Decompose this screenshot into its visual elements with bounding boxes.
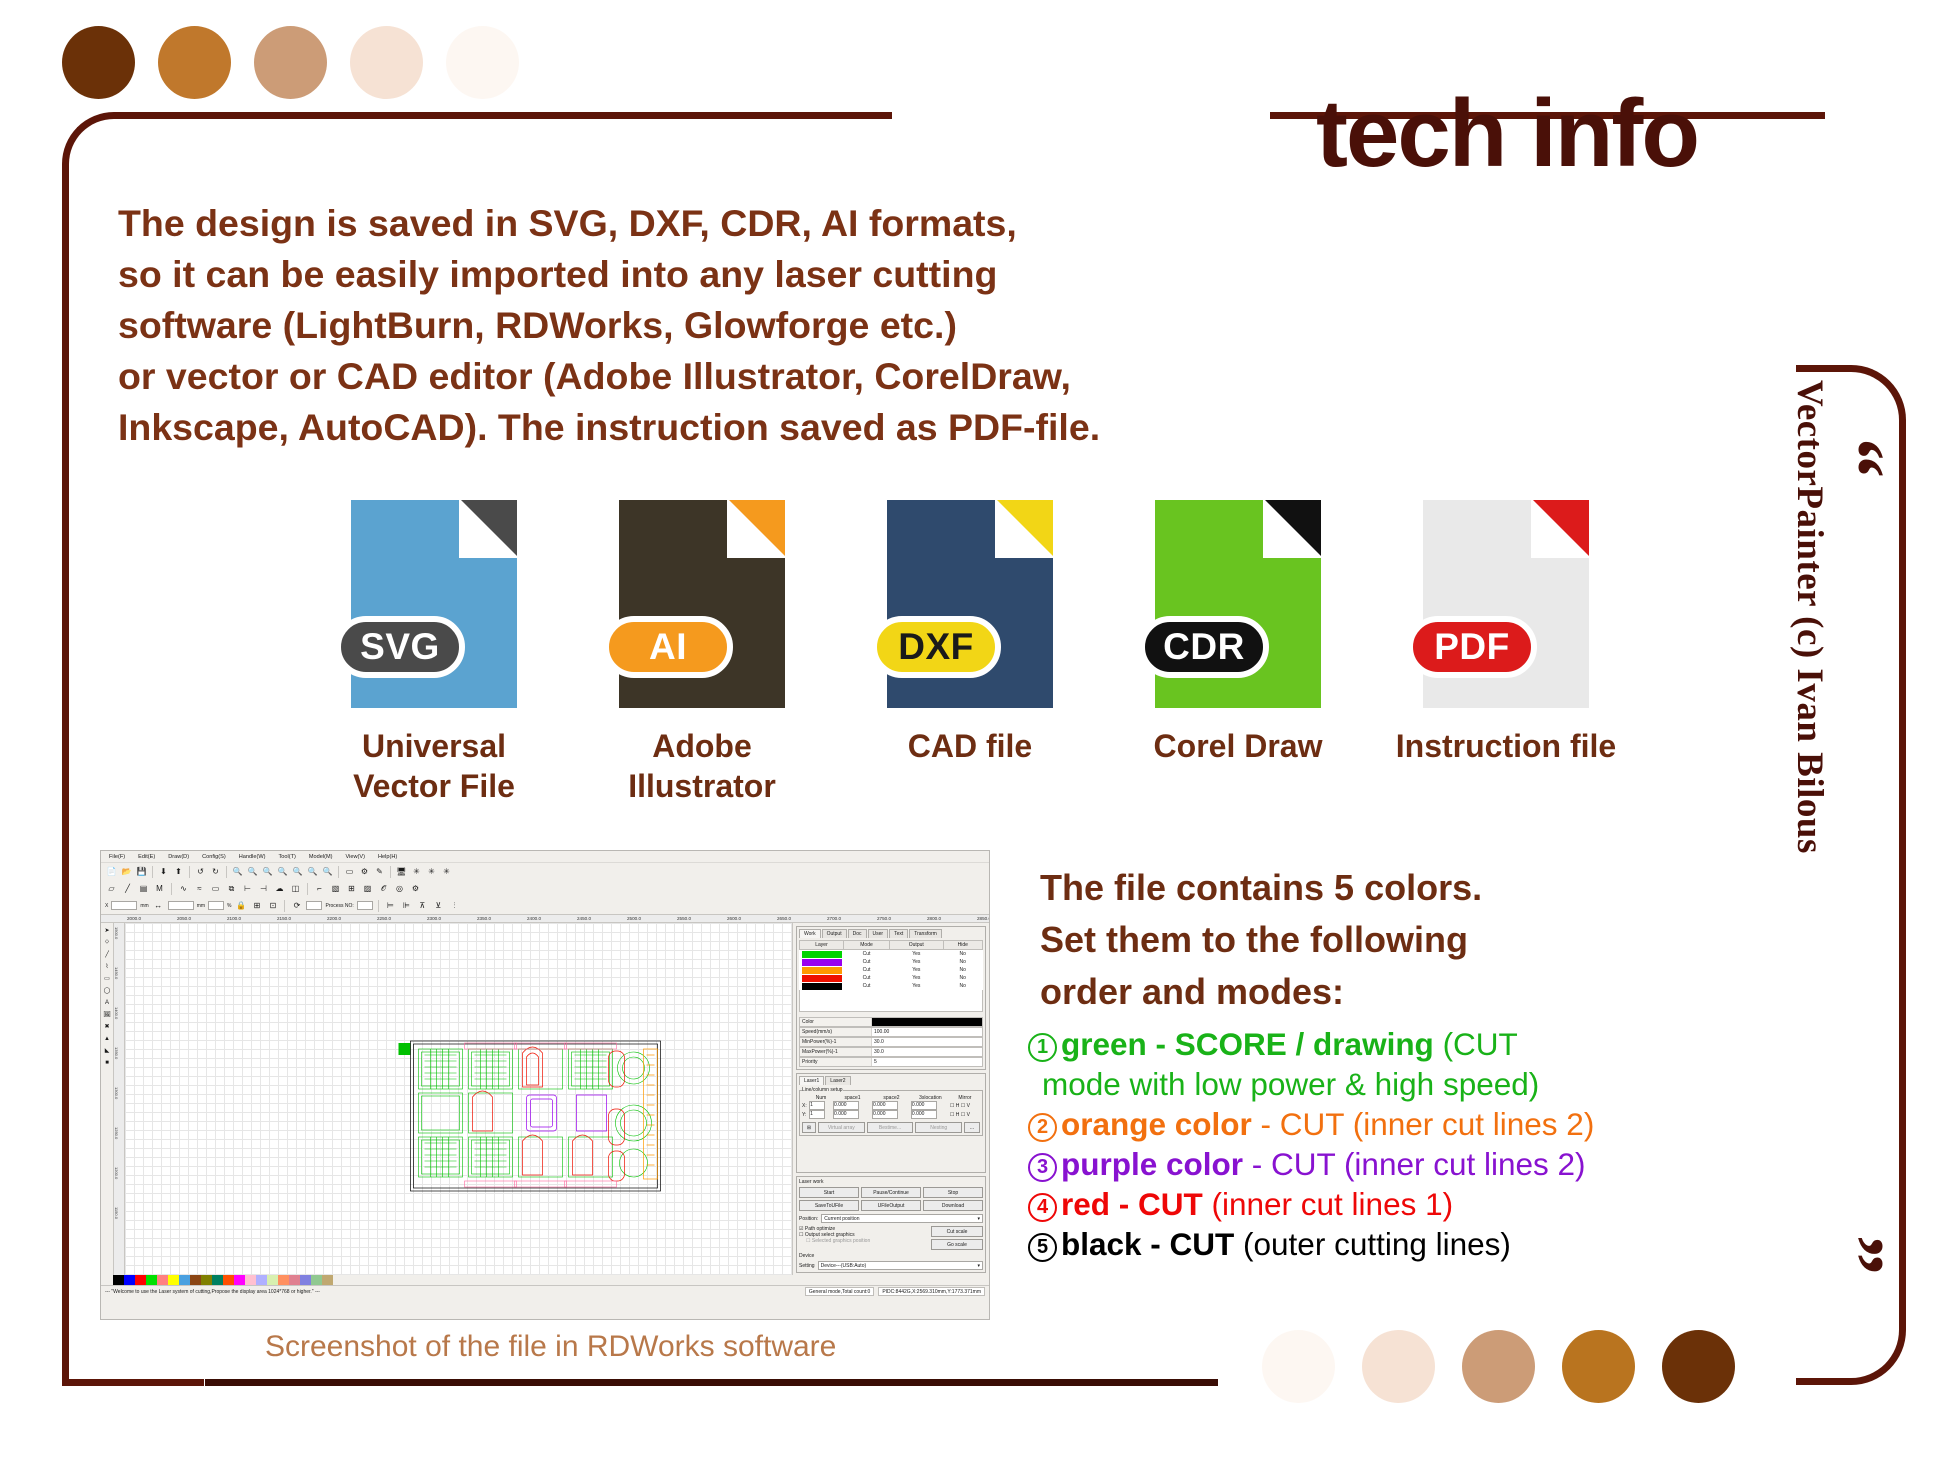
anchor-icon[interactable]: ⊡ [266, 899, 279, 912]
linecol-space2[interactable]: 0.000 [872, 1110, 911, 1119]
layer-color-swatch[interactable] [800, 966, 844, 974]
align-v-icon[interactable]: ⊣ [257, 882, 270, 895]
palette-swatch-17[interactable] [300, 1275, 311, 1285]
linecol-space2[interactable]: 0.000 [872, 1101, 911, 1110]
align-h-icon[interactable]: ⊢ [241, 882, 254, 895]
palette-swatch-3[interactable] [146, 1275, 157, 1285]
laser-work-btn-ufileoutput[interactable]: UFileOutput [861, 1200, 921, 1211]
select-icon[interactable]: ▱ [105, 882, 118, 895]
canvas-artwork [125, 923, 792, 1275]
h-ruler-tick-8: 2400.0 [527, 916, 577, 921]
h-ruler-tick-6: 2300.0 [427, 916, 477, 921]
laser-tab-1[interactable]: Laser1 [799, 1076, 824, 1085]
laser-work-btn-stop[interactable]: Stop [923, 1187, 983, 1198]
palette-swatch-10[interactable] [223, 1275, 234, 1285]
layer-col-mode: Mode [844, 941, 890, 950]
align-left-icon[interactable]: ⊨ [384, 899, 397, 912]
layer-color-swatch[interactable] [800, 974, 844, 982]
pdf-file-icon-cell: PDFInstruction file [1372, 500, 1640, 806]
offset-icon[interactable]: ▧ [329, 882, 342, 895]
menu-item-2[interactable]: Draw(D) [168, 854, 189, 860]
spline-icon[interactable]: ≈ [193, 882, 206, 895]
layer-col-hide: Hide [943, 941, 982, 950]
rdworks-color-palette[interactable] [101, 1275, 989, 1285]
order-number-2: 2 [1028, 1113, 1057, 1142]
v-ruler-tick-6: 1200.0 [114, 1163, 119, 1203]
new-icon[interactable]: 📄 [105, 865, 118, 878]
palette-swatch-0[interactable] [113, 1275, 124, 1285]
rdworks-coordinate-bar[interactable]: X mm ↔ mm % 🔒 ⊞ ⊡ ⟳ Process NO: ⊨ ⊫ ⊼ ⊻ … [101, 897, 989, 914]
svg-file-icon: SVG [351, 500, 517, 708]
unit-w: mm [197, 903, 205, 909]
h-ruler-tick-4: 2200.0 [327, 916, 377, 921]
layer-output: Yes [890, 958, 943, 966]
unit-x: mm [140, 903, 148, 909]
intro-line-3: software (LightBurn, RDWorks, Glowforge … [118, 300, 1278, 351]
laser-work-btn-savetoufile[interactable]: SaveToUFile [799, 1200, 859, 1211]
node-add-icon[interactable]: ✳ [425, 865, 438, 878]
svg-file-icon-cell: SVGUniversalVector File [300, 500, 568, 806]
intro-line-4: or vector or CAD editor (Adobe Illustrat… [118, 351, 1278, 402]
v-ruler-tick-4: 1300.0 [114, 1083, 119, 1123]
array-preview-icon[interactable]: ⊞ [802, 1122, 816, 1133]
device-select[interactable]: Device---(USB:Auto) ▾ [818, 1261, 983, 1270]
colors-heading-line-3: order and modes: [1040, 966, 1680, 1018]
settings-icon[interactable]: ⚙ [358, 865, 371, 878]
colors-heading: The file contains 5 colors. Set them to … [1040, 862, 1680, 1018]
menu-item-7[interactable]: View(V) [346, 854, 365, 860]
curve-icon[interactable]: ∿ [177, 882, 190, 895]
center-icon[interactable]: ⊞ [250, 899, 263, 912]
device-title: Device [799, 1253, 983, 1259]
laser-tab-panel[interactable]: Laser1Laser2 Line/column setup Numspace1… [796, 1073, 986, 1173]
colors-order-list: 1green - SCORE / drawing (CUTmode with l… [1028, 1024, 1708, 1264]
layer-mode: Cut [844, 950, 890, 959]
palette-swatch-7[interactable] [190, 1275, 201, 1285]
color-name-5: black - CUT [1061, 1226, 1234, 1262]
rect-tool-icon[interactable]: ▭ [103, 974, 112, 983]
position-select[interactable]: Current position ▾ [821, 1214, 983, 1223]
panel-tab-output[interactable]: Output [822, 929, 847, 938]
layer-row[interactable]: CutYesNo [800, 974, 983, 982]
align-bottom-icon[interactable]: ⊻ [432, 899, 445, 912]
corner-icon[interactable]: ⌐ [313, 882, 326, 895]
fill-tool-icon[interactable]: ■ [103, 1058, 112, 1067]
color-mode-3: - CUT (inner cut lines 2) [1243, 1146, 1586, 1182]
text-tool-icon[interactable]: A [103, 998, 112, 1007]
node-edit-icon[interactable]: ✳ [410, 865, 423, 878]
x-field[interactable] [111, 901, 137, 910]
palette-swatch-4[interactable] [157, 1275, 168, 1285]
layer-mode: Cut [844, 958, 890, 966]
layer-row[interactable]: CutYesNo [800, 950, 983, 959]
ai-file-icon: AI [619, 500, 785, 708]
palette-swatch-14[interactable] [267, 1275, 278, 1285]
frame-left-bottom-rule [62, 1379, 204, 1386]
open-icon[interactable]: 📂 [120, 865, 133, 878]
rdworks-toolbar-draw[interactable]: ▱ ╱ ▤ M ∿ ≈ ▭ ⧉ ⊢ ⊣ ☁ ◫ ⌐ ▧ ⊞ ▨ 𝒪 ◎ ⚙ [101, 880, 989, 897]
layer-hide: No [943, 966, 982, 974]
laser-work-panel[interactable]: Laser work StartPause/ContinueStop SaveT… [796, 1176, 986, 1273]
h-ruler-tick-10: 2500.0 [627, 916, 677, 921]
pdf-file-icon-badge: PDF [1407, 616, 1537, 678]
laser-tab-strip[interactable]: Laser1Laser2 [799, 1076, 983, 1085]
h-ruler-tick-1: 2050.0 [177, 916, 227, 921]
chevron-down-icon[interactable]: ▾ [977, 1216, 980, 1222]
color-mode-4: (inner cut lines 1) [1203, 1186, 1453, 1222]
linecol-button-3[interactable]: ... [964, 1122, 980, 1133]
v-ruler-tick-5: 1250.0 [114, 1123, 119, 1163]
color-order-item-4: 4red - CUT (inner cut lines 1) [1028, 1184, 1708, 1224]
v-ruler-tick-3: 1350.0 [114, 1043, 119, 1083]
scale-x-field[interactable] [208, 901, 224, 910]
linecol-axis: Y: [802, 1110, 809, 1119]
linecol-button-1[interactable]: Bestime... [867, 1122, 914, 1133]
color-name-4: red - CUT [1061, 1186, 1203, 1222]
pdf-file-icon-label: Instruction file [1396, 726, 1616, 766]
colors-heading-line-1: The file contains 5 colors. [1040, 862, 1680, 914]
dxf-file-icon-cell: DXFCAD file [836, 500, 1104, 806]
linecol-row[interactable]: X:10.0000.0000.000☐ H ☐ V [802, 1101, 980, 1110]
v-ruler-tick-7: 1150.0 [114, 1203, 119, 1243]
ai-file-icon-cell: AIAdobeIllustrator [568, 500, 836, 806]
palette-swatch-16[interactable] [289, 1275, 300, 1285]
menu-item-8[interactable]: Help(H) [378, 854, 397, 860]
line-icon[interactable]: ╱ [121, 882, 134, 895]
zoom-page-icon[interactable]: 🔍 [306, 865, 319, 878]
order-number-3: 3 [1028, 1153, 1057, 1182]
param-value[interactable]: 30.0 [872, 1048, 982, 1056]
frame-bottom-rule [205, 1379, 1218, 1386]
process-no-field[interactable] [357, 901, 373, 910]
group-tool-icon[interactable]: ▲ [103, 1034, 112, 1043]
palette-swatch-15[interactable] [278, 1275, 289, 1285]
layer-output: Yes [890, 950, 943, 959]
monitor-icon[interactable]: 🖥 [395, 865, 408, 878]
linecol-button-0[interactable]: Virtual array [818, 1122, 865, 1133]
save-icon[interactable]: 💾 [135, 865, 148, 878]
laser-work-title: Laser work [799, 1179, 983, 1185]
linecol-axis: X: [802, 1101, 809, 1110]
menu-item-3[interactable]: Config(S) [202, 854, 226, 860]
laser-work-btn-start[interactable]: Start [799, 1187, 859, 1198]
h-ruler-tick-5: 2250.0 [377, 916, 427, 921]
go-scale-button[interactable]: Go scale [931, 1239, 983, 1250]
cloud-icon[interactable]: ☁ [273, 882, 286, 895]
dxf-file-icon: DXF [887, 500, 1053, 708]
menu-item-0[interactable]: File(F) [109, 854, 125, 860]
width-field[interactable] [168, 901, 194, 910]
panel-tab-doc[interactable]: Doc [848, 929, 867, 938]
param-value[interactable]: 30.0 [872, 1038, 982, 1046]
rdworks-toolbar-main[interactable]: 📄 📂 💾 ⬇ ⬆ ↺ ↻ 🔍 🔍 🔍 🔍 🔍 🔍 🔍 ▭ ⚙ ✎ 🖥 ✳ ✳ [101, 862, 989, 880]
menu-item-1[interactable]: Edit(E) [138, 854, 155, 860]
panel-tab-user[interactable]: User [868, 929, 889, 938]
panel-tab-strip[interactable]: WorkOutputDocUserTextTransform [799, 929, 983, 938]
color-order-item-1-cont: mode with low power & high speed) [1028, 1064, 1708, 1104]
undo-icon[interactable]: ↺ [194, 865, 207, 878]
intro-line-5: Inkscape, AutoCAD). The instruction save… [118, 402, 1278, 453]
bottom-swatch-row [1262, 1330, 1735, 1403]
rotate-icon[interactable]: ⟳ [290, 899, 303, 912]
angle-field[interactable] [306, 901, 322, 910]
ellipse-tool-icon[interactable]: ◯ [103, 986, 112, 995]
h-ruler-tick-14: 2700.0 [827, 916, 877, 921]
polyline-icon[interactable]: ▤ [137, 882, 150, 895]
layer-parameters[interactable]: ColorSpeed(mm/s)100.00MinPower(%)-130.0M… [799, 1017, 983, 1067]
h-ruler-tick-16: 2800.0 [927, 916, 977, 921]
order-number-5: 5 [1028, 1233, 1057, 1262]
delete-tool-icon[interactable]: ✖ [103, 1022, 112, 1031]
layer-output: Yes [890, 982, 943, 990]
param-row[interactable]: MaxPower(%)-130.0 [799, 1047, 983, 1057]
gear2-icon[interactable]: ⚙ [409, 882, 422, 895]
linecol-mirror[interactable]: ☐ H ☐ V [950, 1101, 980, 1110]
layer-output: Yes [890, 974, 943, 982]
top-swatch-row [62, 26, 519, 99]
v-ruler-tick-1: 1450.0 [114, 963, 119, 1003]
layer-col-output: Output [890, 941, 943, 950]
position-value: Current position [824, 1216, 859, 1222]
linecol-title: Line/column setup [802, 1087, 843, 1093]
work-panel[interactable]: WorkOutputDocUserTextTransform LayerMode… [796, 926, 986, 1070]
process-no-label: Process NO: [325, 903, 353, 909]
cdr-file-icon-cell: CDRCorel Draw [1104, 500, 1372, 806]
layer-mode: Cut [844, 982, 890, 990]
h-ruler-tick-2: 2100.0 [227, 916, 277, 921]
credit-text: VectorPainter (c) Ivan Bilous [1788, 380, 1831, 1060]
zoom-out-icon[interactable]: 🔍 [246, 865, 259, 878]
redo-icon[interactable]: ↻ [209, 865, 222, 878]
palette-swatch-1[interactable] [124, 1275, 135, 1285]
export-icon[interactable]: ⬆ [172, 865, 185, 878]
linecol-space1[interactable]: 0.000 [833, 1110, 872, 1119]
laser-work-buttons-row2[interactable]: SaveToUFileUFileOutputDownload [799, 1200, 983, 1211]
linecol-space1[interactable]: 0.000 [833, 1101, 872, 1110]
polyline-tool-icon[interactable]: ⌇ [103, 962, 112, 971]
node-tool-icon[interactable]: ⬦ [103, 938, 112, 947]
laser-tab-2[interactable]: Laser2 [825, 1076, 850, 1085]
polygon-icon[interactable]: ⧉ [225, 882, 238, 895]
layer-row[interactable]: CutYesNo [800, 982, 983, 990]
x-label: X [105, 903, 108, 909]
swatch-brown [158, 26, 231, 99]
param-value[interactable] [872, 1018, 982, 1026]
param-key: MaxPower(%)-1 [800, 1048, 872, 1056]
quote-close-icon: ” [1815, 1235, 1895, 1275]
cut-scale-button[interactable]: Cut scale [931, 1226, 983, 1237]
layer-color-swatch[interactable] [800, 982, 844, 990]
color-mode-2: - CUT (inner cut lines 2) [1252, 1106, 1595, 1142]
zoom-all-icon[interactable]: 🔍 [291, 865, 304, 878]
palette-swatch-9[interactable] [212, 1275, 223, 1285]
layer-color-swatch[interactable] [800, 950, 844, 959]
color-name-1: green - SCORE / drawing [1061, 1026, 1434, 1062]
h-ruler-tick-12: 2600.0 [727, 916, 777, 921]
rdworks-status-bar: --- "Welcome to use the Laser system of … [101, 1285, 989, 1297]
align-right-icon[interactable]: ⊫ [400, 899, 413, 912]
color-order-item-5: 5black - CUT (outer cutting lines) [1028, 1224, 1708, 1264]
h-ruler-tick-3: 2150.0 [277, 916, 327, 921]
pct-x: % [227, 903, 231, 909]
ungroup-tool-icon[interactable]: ◣ [103, 1046, 112, 1055]
pdf-file-icon: PDF [1423, 500, 1589, 708]
palette-swatch-5[interactable] [168, 1275, 179, 1285]
swatch-tan [1462, 1330, 1535, 1403]
v-ruler-tick-0: 1500.0 [114, 923, 119, 963]
laser-work-btn-pause-continue[interactable]: Pause/Continue [861, 1187, 921, 1198]
param-row[interactable]: Color [799, 1017, 983, 1027]
svg-file-icon-badge: SVG [335, 616, 465, 678]
linecol-mirror[interactable]: ☐ H ☐ V [950, 1110, 980, 1119]
text-icon[interactable]: M [153, 882, 166, 895]
linecol-location[interactable]: 0.000 [911, 1101, 950, 1110]
palette-swatch-8[interactable] [201, 1275, 212, 1285]
swatch-light-peach [1362, 1330, 1435, 1403]
color-mode-1: (CUT [1434, 1026, 1518, 1062]
palette-swatch-19[interactable] [322, 1275, 333, 1285]
zoom-fit-icon[interactable]: 🔍 [261, 865, 274, 878]
selected-graphics-check: ☐ Selected graphics position [799, 1238, 870, 1244]
setting-label: Setting [799, 1263, 815, 1269]
color-name-3: purple color [1061, 1146, 1243, 1182]
menu-item-5[interactable]: Tool(T) [278, 854, 295, 860]
linecol-table[interactable]: Numspace1space23slocationMirror X:10.000… [802, 1095, 980, 1119]
screenshot-caption: Screenshot of the file in RDWorks softwa… [265, 1330, 836, 1364]
cdr-file-icon: CDR [1155, 500, 1321, 708]
laser-work-btn-download[interactable]: Download [923, 1200, 983, 1211]
menu-item-4[interactable]: Handle(W) [239, 854, 266, 860]
distribute-icon[interactable]: ⫶ [448, 899, 461, 912]
linecol-button-row[interactable]: ⊞Virtual arrayBestime...Nesting... [802, 1122, 980, 1133]
device-value: Device---(USB:Auto) [821, 1263, 867, 1269]
param-row[interactable]: Priority5 [799, 1057, 983, 1067]
width-lock-icon[interactable]: ↔ [152, 899, 165, 912]
zoom-selection-icon[interactable]: 🔍 [276, 865, 289, 878]
cdr-file-icon-badge: CDR [1139, 616, 1269, 678]
h-ruler-tick-7: 2350.0 [477, 916, 527, 921]
rdworks-vertical-ruler: 1500.01450.01400.01350.01300.01250.01200… [114, 923, 125, 1275]
mirror-icon[interactable]: ◫ [289, 882, 302, 895]
layer-mode: Cut [844, 966, 890, 974]
panel-tab-work[interactable]: Work [799, 929, 821, 938]
image-tool-icon[interactable]: 🖼 [103, 1010, 112, 1019]
layer-hide: No [943, 958, 982, 966]
linecol-num[interactable]: 1 [809, 1101, 833, 1110]
linecol-num[interactable]: 1 [809, 1110, 833, 1119]
rdworks-canvas[interactable] [125, 923, 792, 1275]
order-number-1: 1 [1028, 1033, 1057, 1062]
palette-swatch-11[interactable] [234, 1275, 245, 1285]
layer-hide: No [943, 974, 982, 982]
rect-select-icon[interactable]: ▭ [343, 865, 356, 878]
menu-item-6[interactable]: Model(M) [309, 854, 333, 860]
layer-color-swatch[interactable] [800, 958, 844, 966]
color-order-item-1: 1green - SCORE / drawing (CUT [1028, 1024, 1708, 1064]
linecol-button-2[interactable]: Nesting [915, 1122, 962, 1133]
panel-tab-transform[interactable]: Transform [909, 929, 942, 938]
swatch-cream [446, 26, 519, 99]
palette-swatch-6[interactable] [179, 1275, 190, 1285]
layer-mode: Cut [844, 974, 890, 982]
palette-swatch-2[interactable] [135, 1275, 146, 1285]
rdworks-right-panel[interactable]: WorkOutputDocUserTextTransform LayerMode… [792, 923, 989, 1275]
color-order-item-2: 2orange color - CUT (inner cut lines 2) [1028, 1104, 1708, 1144]
param-key: Priority [800, 1058, 872, 1066]
rdworks-screenshot: File(F)Edit(E)Draw(D)Config(S)Handle(W)T… [100, 850, 990, 1320]
lock-icon[interactable]: 🔒 [234, 899, 247, 912]
linecol-row[interactable]: Y:10.0000.0000.000☐ H ☐ V [802, 1110, 980, 1119]
array-icon[interactable]: ⊞ [345, 882, 358, 895]
panel-tab-text[interactable]: Text [889, 929, 908, 938]
rectangle-icon[interactable]: ▭ [209, 882, 222, 895]
preview-icon[interactable]: ◎ [393, 882, 406, 895]
layer-row[interactable]: CutYesNo [800, 958, 983, 966]
param-value[interactable]: 100.00 [872, 1028, 982, 1036]
param-value[interactable]: 5 [872, 1058, 982, 1066]
palette-swatch-12[interactable] [245, 1275, 256, 1285]
param-row[interactable]: MinPower(%)-130.0 [799, 1037, 983, 1047]
import-icon[interactable]: ⬇ [157, 865, 170, 878]
rdworks-tool-column[interactable]: ➤ ⬦ ╱ ⌇ ▭ ◯ A 🖼 ✖ ▲ ◣ ■ [101, 923, 114, 1275]
position-label: Position: [799, 1216, 818, 1222]
ai-file-icon-badge: AI [603, 616, 733, 678]
palette-swatch-18[interactable] [311, 1275, 322, 1285]
line-tool-icon[interactable]: ╱ [103, 950, 112, 959]
dxf-file-icon-label: CAD file [908, 726, 1032, 766]
layer-hide: No [943, 950, 982, 959]
rdworks-menubar[interactable]: File(F)Edit(E)Draw(D)Config(S)Handle(W)T… [101, 851, 989, 862]
hatch-icon[interactable]: ▨ [361, 882, 374, 895]
param-row[interactable]: Speed(mm/s)100.00 [799, 1027, 983, 1037]
status-mid: General mode,Total count:0 [805, 1287, 874, 1296]
node-del-icon[interactable]: ✳ [440, 865, 453, 878]
pen-icon[interactable]: ✎ [373, 865, 386, 878]
color-name-2: orange color [1061, 1106, 1252, 1142]
zoom-window-icon[interactable]: 🔍 [321, 865, 334, 878]
layer-col-layer: Layer [800, 941, 844, 950]
layer-table[interactable]: LayerModeOutputHide CutYesNoCutYesNoCutY… [799, 940, 983, 990]
color-mode-5: (outer cutting lines) [1234, 1226, 1511, 1262]
linecol-location[interactable]: 0.000 [911, 1110, 950, 1119]
h-ruler-tick-13: 2650.0 [777, 916, 827, 921]
intro-line-1: The design is saved in SVG, DXF, CDR, AI… [118, 198, 1278, 249]
param-key: Speed(mm/s) [800, 1028, 872, 1036]
h-ruler-tick-17: 2850.0 [977, 916, 990, 921]
layer-row[interactable]: CutYesNo [800, 966, 983, 974]
chevron-down-icon-2[interactable]: ▾ [977, 1263, 980, 1269]
status-right: PIDC:8442G,X:2569.310mm,Y:1773.371mm [878, 1287, 985, 1296]
zoom-in-icon[interactable]: 🔍 [231, 865, 244, 878]
pointer-tool-icon[interactable]: ➤ [103, 926, 112, 935]
align-top-icon[interactable]: ⊼ [416, 899, 429, 912]
svg-file-icon-label: UniversalVector File [353, 726, 515, 806]
swatch-light-peach [350, 26, 423, 99]
rdworks-horizontal-ruler: 2000.02050.02100.02150.02200.02250.02300… [101, 914, 989, 923]
h-ruler-tick-0: 2000.0 [127, 916, 177, 921]
laser-work-buttons-row1[interactable]: StartPause/ContinueStop [799, 1187, 983, 1198]
palette-swatch-13[interactable] [256, 1275, 267, 1285]
page-title: tech info [1316, 86, 1698, 182]
bezier-icon[interactable]: 𝒪 [377, 882, 390, 895]
dxf-file-icon-badge: DXF [871, 616, 1001, 678]
color-order-item-3: 3purple color - CUT (inner cut lines 2) [1028, 1144, 1708, 1184]
param-key: MinPower(%)-1 [800, 1038, 872, 1046]
h-ruler-tick-15: 2750.0 [877, 916, 927, 921]
swatch-cream [1262, 1330, 1335, 1403]
swatch-brown [1562, 1330, 1635, 1403]
order-number-4: 4 [1028, 1193, 1057, 1222]
